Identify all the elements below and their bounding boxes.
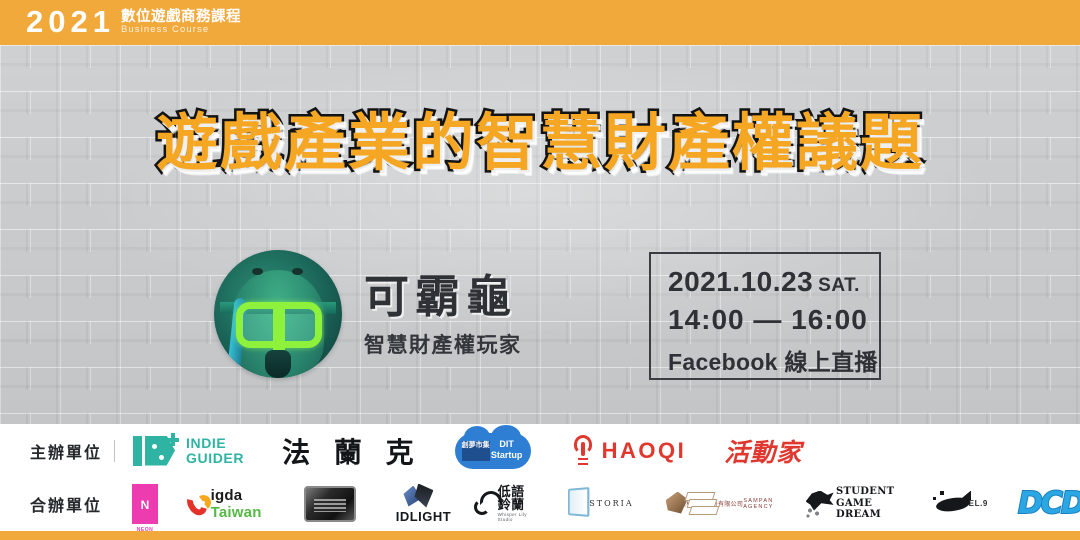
coorganizer-label: 合辦單位: [30, 492, 102, 516]
idlight-icon: [403, 484, 433, 508]
logo-diyulinglan[interactable]: 低語鈴蘭 Whisper Lily Studio: [472, 485, 538, 522]
logo-dark-badge[interactable]: [304, 486, 356, 522]
diyulinglan-cn: 低語鈴蘭: [498, 485, 538, 511]
organizer-logos: INDIE GUIDER 法 蘭 克 創夢市集 DIT Startup: [133, 431, 802, 471]
student-game-dream-wordmark: STUDENT GAME DREAM: [836, 486, 902, 521]
indie-guider-line2: GUIDER: [186, 451, 244, 466]
speaker-block: 可霸龜 智慧財產權玩家: [214, 250, 522, 378]
organizer-divider: [114, 440, 115, 462]
avatar: [214, 250, 342, 378]
course-title-en: Business Course: [121, 25, 241, 35]
event-date: 2021.10.23: [668, 266, 813, 297]
event-poster: 2021 數位遊戲商務課程 Business Course 遊戲產業的智慧財產權…: [0, 0, 1080, 540]
logo-dit-startup[interactable]: 創夢市集 DIT Startup: [455, 433, 531, 469]
event-info-box: 2021.10.23SAT. 14:00 — 16:00 Facebook 線上…: [649, 252, 881, 380]
igda-icon: [188, 492, 206, 516]
logo-dcd[interactable]: DCD: [1018, 486, 1080, 521]
igda-taiwan-text: Taiwan: [211, 504, 262, 521]
logo-huodongjia[interactable]: 活動家: [724, 433, 802, 469]
igda-text: igda: [211, 487, 243, 504]
dit-en-line1: DIT: [489, 439, 525, 450]
neon-icon: N NEON: [132, 484, 158, 524]
footer-bar: [0, 531, 1080, 540]
neon-mark: N: [132, 498, 158, 512]
student-game-dream-icon: [804, 489, 830, 519]
avatar-eye-right: [292, 268, 303, 275]
logo-student-game-dream[interactable]: STUDENT GAME DREAM: [804, 486, 902, 521]
event-date-line: 2021.10.23SAT.: [668, 266, 879, 298]
logo-indie-guider[interactable]: INDIE GUIDER: [133, 434, 244, 468]
logo-igda-taiwan[interactable]: igda Taiwan: [188, 487, 274, 521]
sampan-icon: [664, 490, 668, 516]
dit-en-text: DIT Startup: [489, 439, 525, 461]
storia-wordmark: STORIA: [589, 499, 633, 508]
logo-neon[interactable]: N NEON: [132, 484, 158, 524]
sgd-line2: GAME DREAM: [836, 498, 902, 521]
sponsor-panel: 主辦單位 INDIE GUIDER 法 蘭 克: [0, 424, 1080, 531]
indie-guider-line1: INDIE: [186, 436, 244, 451]
event-weekday: SAT.: [818, 275, 860, 296]
diyulinglan-en: Whisper Lily Studio: [498, 513, 538, 522]
avatar-eye-left: [252, 268, 263, 275]
brand-text: 數位遊戲商務課程 Business Course: [121, 10, 241, 35]
lightbulb-icon: [571, 435, 595, 467]
diving-mask-icon: [236, 302, 322, 348]
haoqi-wordmark: HAOQI: [602, 438, 687, 464]
logo-sampan-agency[interactable]: 深帆版權經紀股份有限公司 SAMPAN AGENCY: [664, 490, 774, 518]
logo-idlight[interactable]: IDLIGHT: [386, 484, 441, 524]
level9-icon: [932, 490, 951, 516]
logo-haoqi[interactable]: HAOQI: [571, 435, 687, 467]
sgd-line1: STUDENT: [836, 486, 902, 498]
indie-guider-wordmark: INDIE GUIDER: [186, 436, 244, 465]
dcd-wordmark: DCD: [1018, 486, 1080, 521]
diyulinglan-wordmark: 低語鈴蘭 Whisper Lily Studio: [498, 485, 538, 522]
sampan-en: SAMPAN AGENCY: [743, 498, 773, 510]
logo-franc[interactable]: 法 蘭 克: [282, 431, 421, 471]
dark-badge-icon: [304, 486, 356, 522]
dit-cn-text: 創夢市集: [462, 441, 490, 461]
coorganizer-logos: N NEON igda Taiwan IDLIGHT: [132, 484, 1080, 524]
event-time: 14:00 — 16:00: [668, 304, 879, 336]
diyulinglan-icon: [472, 491, 494, 517]
speaker-text: 可霸龜 智慧財產權玩家: [364, 273, 522, 358]
coorganizer-row: 合辦單位 N NEON igda Taiwan: [0, 477, 1080, 530]
avatar-mouthpiece: [265, 350, 291, 378]
header-bar: 2021 數位遊戲商務課程 Business Course: [0, 0, 1080, 45]
storia-icon: [568, 487, 589, 517]
indie-guider-icon: [133, 434, 179, 468]
logo-storia[interactable]: STORIA: [567, 488, 633, 519]
idlight-wordmark: IDLIGHT: [386, 509, 460, 524]
page-title: 遊戲產業的智慧財產權議題: [0, 92, 1080, 182]
organizer-row: 主辦單位 INDIE GUIDER 法 蘭 克: [0, 424, 1080, 477]
dit-en-line2: Startup: [489, 450, 525, 461]
event-platform: Facebook 線上直播: [668, 343, 879, 377]
brand-year: 2021: [26, 6, 115, 37]
course-title-cn: 數位遊戲商務課程: [121, 10, 241, 25]
speaker-name: 可霸龜: [364, 273, 522, 320]
logo-level9[interactable]: LEVEL.9: [932, 490, 988, 518]
igda-wordmark: igda Taiwan: [211, 487, 275, 521]
speaker-role: 智慧財產權玩家: [364, 329, 522, 359]
organizer-label: 主辦單位: [30, 439, 102, 463]
